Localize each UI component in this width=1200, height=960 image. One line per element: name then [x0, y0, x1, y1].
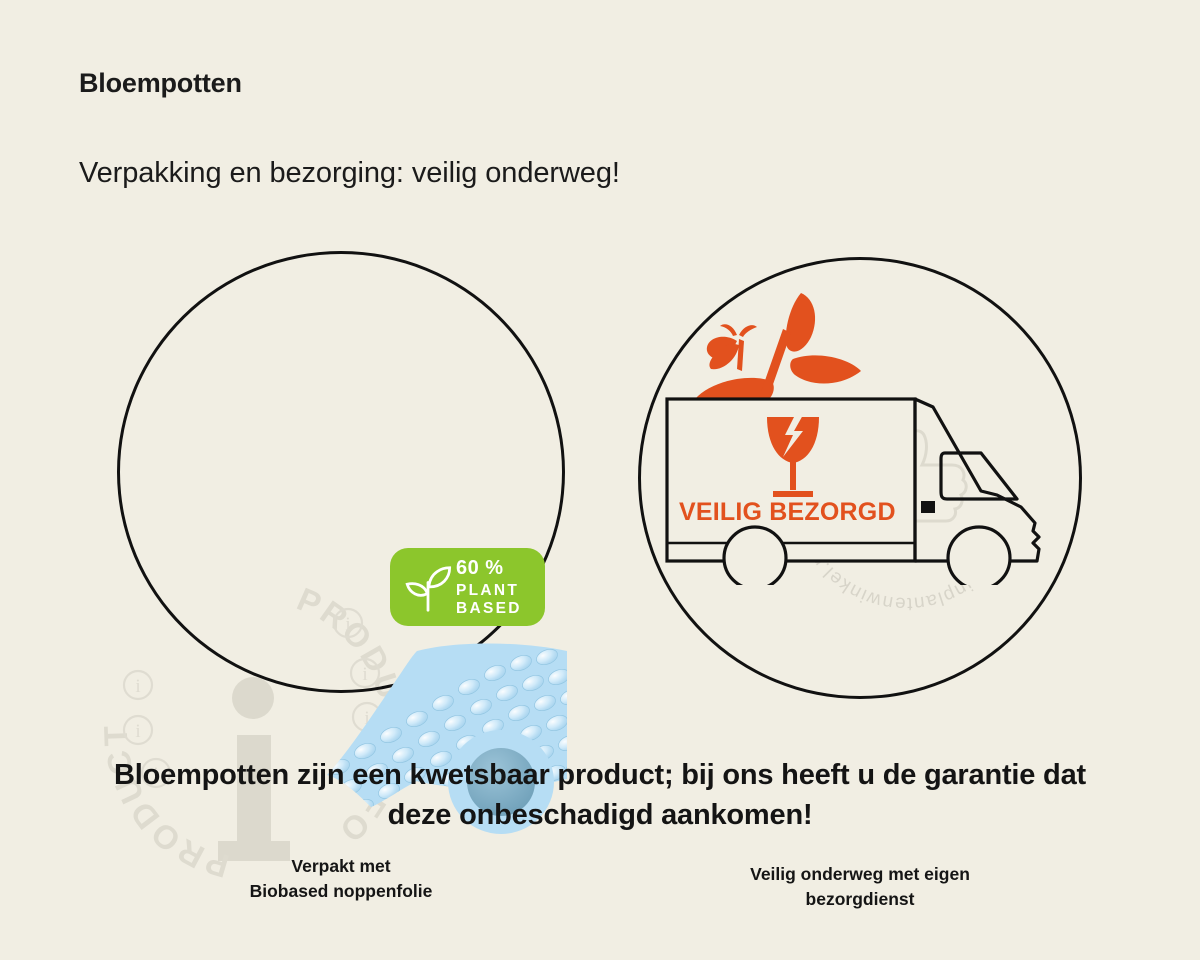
- butterfly-icon: [707, 324, 757, 371]
- closing-statement-line2: deze onbeschadigd aankomen!: [0, 795, 1200, 835]
- van-front-wheel: [948, 527, 1010, 585]
- page-title: Bloempotten: [79, 68, 242, 99]
- van-rear-wheel: [724, 527, 786, 585]
- plant-based-line1: PLANT: [456, 583, 522, 599]
- closing-statement-line1: Bloempotten zijn een kwetsbaar product; …: [0, 755, 1200, 795]
- slide-canvas: PRODUCTINFO PRODUCTINFO i i i i i i Bloe…: [0, 0, 1200, 960]
- delivery-van-illustration: [645, 285, 1075, 585]
- packaging-caption-line1: Verpakt met: [120, 854, 562, 879]
- info-badge-icon: i: [124, 716, 152, 744]
- plant-based-percent: 60 %: [456, 558, 522, 578]
- van-side-text: VEILIG BEZORGD: [679, 498, 896, 527]
- closing-statement: Bloempotten zijn een kwetsbaar product; …: [0, 755, 1200, 835]
- info-badge-icon: i: [124, 671, 152, 699]
- page-subtitle: Verpakking en bezorging: veilig onderweg…: [79, 157, 620, 190]
- van-door-handle: [921, 501, 935, 513]
- plant-based-badge-text: 60 % PLANT BASED: [456, 558, 522, 617]
- plant-based-line2: BASED: [456, 601, 522, 617]
- delivery-caption-line2: bezorgdienst: [641, 887, 1079, 912]
- sprout-leaf-icon: [402, 560, 454, 614]
- delivery-caption: Veilig onderweg met eigen bezorgdienst: [641, 862, 1079, 913]
- svg-text:i: i: [135, 721, 140, 742]
- packaging-caption-line2: Biobased noppenfolie: [120, 879, 562, 904]
- delivery-caption-line1: Veilig onderweg met eigen: [641, 862, 1079, 887]
- plant-butterfly-logo-icon: [695, 293, 861, 413]
- packaging-caption: Verpakt met Biobased noppenfolie: [120, 854, 562, 905]
- plant-based-badge: 60 % PLANT BASED: [390, 548, 545, 626]
- svg-text:i: i: [135, 676, 140, 697]
- panel-packaging-circle: 60 % PLANT BASED: [117, 251, 565, 693]
